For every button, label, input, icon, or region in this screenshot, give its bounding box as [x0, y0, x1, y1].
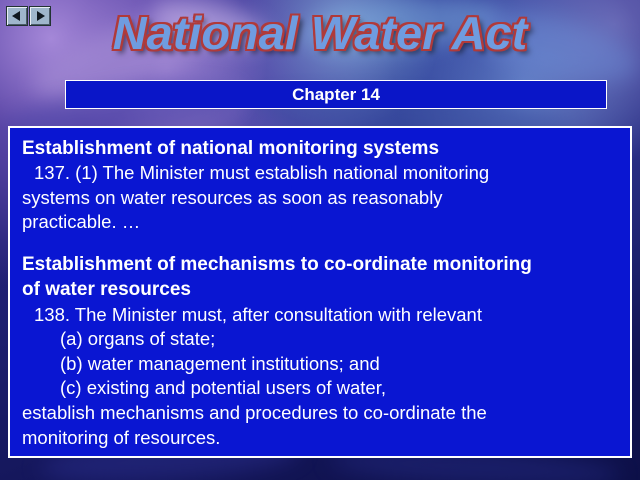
- section1-line3: practicable. …: [22, 210, 620, 235]
- page-title: National Water Act: [0, 6, 640, 60]
- next-slide-button[interactable]: [29, 6, 51, 26]
- section2-heading-line2: of water resources: [22, 277, 620, 302]
- section2-line1: 138. The Minister must, after consultati…: [22, 303, 620, 328]
- section2-line3: monitoring of resources.: [22, 426, 620, 451]
- section-spacer: [22, 235, 620, 252]
- section2-item-c: (c) existing and potential users of wate…: [22, 376, 620, 401]
- chapter-label: Chapter 14: [292, 85, 380, 105]
- section2-line2: establish mechanisms and procedures to c…: [22, 401, 620, 426]
- next-arrow-icon: [34, 10, 46, 22]
- section1-line1: 137. (1) The Minister must establish nat…: [22, 161, 620, 186]
- navigation-controls[interactable]: [6, 6, 51, 26]
- slide: National Water Act Chapter 14 Establishm…: [0, 0, 640, 480]
- prev-arrow-icon: [11, 10, 23, 22]
- previous-slide-button[interactable]: [6, 6, 28, 26]
- chapter-banner: Chapter 14: [65, 80, 607, 109]
- content-panel: Establishment of national monitoring sys…: [8, 126, 632, 458]
- section2-item-a: (a) organs of state;: [22, 327, 620, 352]
- section1-heading: Establishment of national monitoring sys…: [22, 136, 620, 161]
- section1-line2: systems on water resources as soon as re…: [22, 186, 620, 211]
- section2-item-b: (b) water management institutions; and: [22, 352, 620, 377]
- section2-heading-line1: Establishment of mechanisms to co-ordina…: [22, 252, 620, 277]
